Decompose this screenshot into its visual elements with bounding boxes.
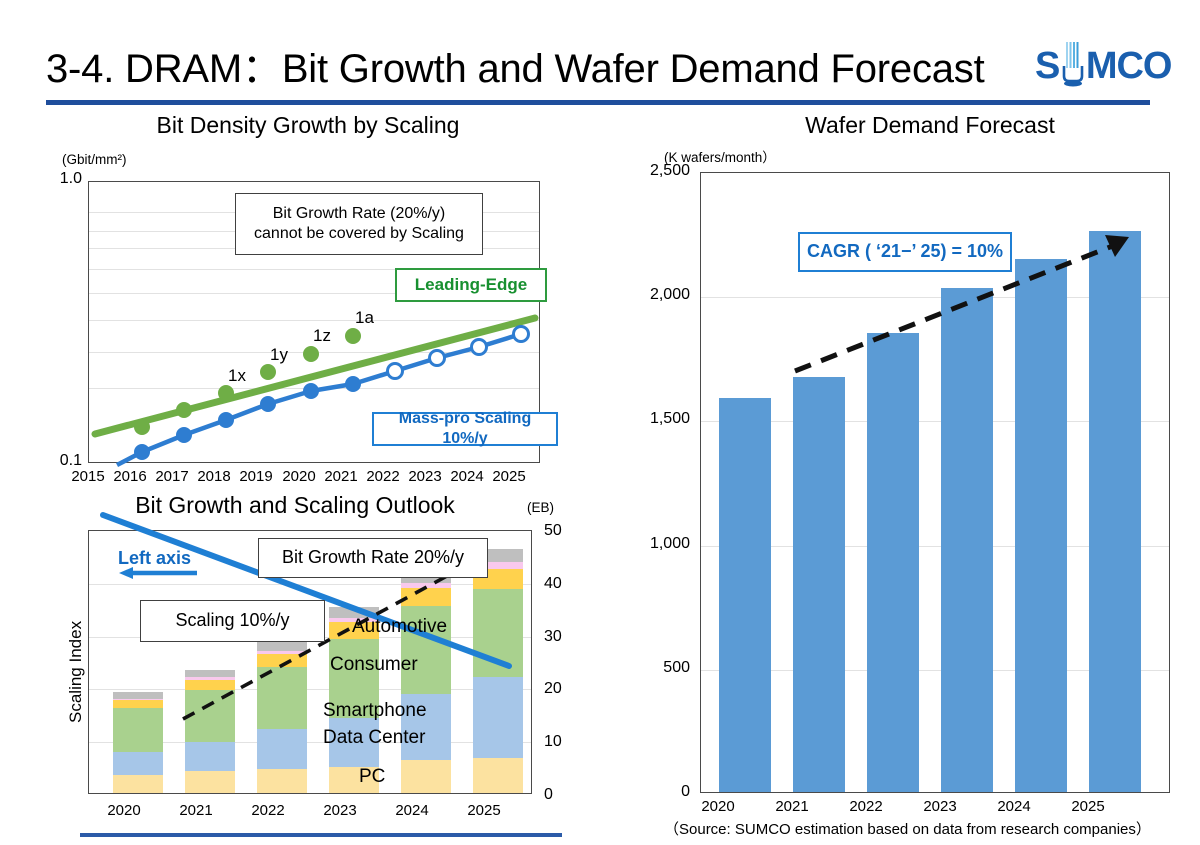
chart2-xtick: 2024 <box>374 802 450 819</box>
header-rule <box>46 100 1150 105</box>
chart2-unit-label: (EB) <box>527 500 554 515</box>
leading-edge-point <box>134 419 150 435</box>
chart3-xtick: 2021 <box>756 798 828 815</box>
scaling-rate-label: Scaling 10%/y <box>175 609 289 632</box>
chart2-xtick: 2021 <box>158 802 234 819</box>
chart2-xtick: 2020 <box>86 802 162 819</box>
chart1-ytick-top: 1.0 <box>38 170 82 188</box>
chart1-xtick: 2025 <box>483 468 535 485</box>
chart3-ytick: 2,500 <box>618 162 690 180</box>
chart2-ytick: 30 <box>544 628 562 646</box>
chart2-xtick: 2025 <box>446 802 522 819</box>
segment-label-consumer: Consumer <box>330 654 418 676</box>
chart3-xtick: 2023 <box>904 798 976 815</box>
leading-edge-point <box>218 385 234 401</box>
chart2-title: Bit Growth and Scaling Outlook <box>75 492 515 519</box>
bit-growth-note-line1: Bit Growth Rate (20%/y) <box>254 204 464 224</box>
logo-text-right: MCO <box>1086 45 1172 87</box>
mass-pro-legend-box: Mass-pro Scaling 10%/y <box>372 412 558 446</box>
chart3-xtick: 2020 <box>682 798 754 815</box>
mass-pro-point-open <box>388 364 403 379</box>
segment-label-smartphone: Smartphone <box>323 700 427 722</box>
chart2-ytick: 10 <box>544 733 562 751</box>
bit-growth-note-line2: cannot be covered by Scaling <box>254 224 464 244</box>
leading-edge-point <box>303 346 319 362</box>
chart3-ytick: 2,000 <box>618 286 690 304</box>
chart2-ytick: 50 <box>544 522 562 540</box>
mass-pro-point <box>303 383 319 399</box>
chart2-left-axis-label: Scaling Index <box>66 621 86 723</box>
chart2-xtick: 2023 <box>302 802 378 819</box>
chart3-xtick: 2024 <box>978 798 1050 815</box>
chart3-xtick: 2022 <box>830 798 902 815</box>
mass-pro-point <box>260 396 276 412</box>
point-label-1a: 1a <box>355 308 374 328</box>
chart2-ytick: 40 <box>544 575 562 593</box>
wafer-crucible-icon <box>1062 42 1084 88</box>
chart3-title: Wafer Demand Forecast <box>700 112 1160 139</box>
leading-edge-legend-box: Leading-Edge <box>395 268 547 302</box>
point-label-1x: 1x <box>228 366 246 386</box>
segment-label-datacenter: Data Center <box>323 727 425 749</box>
bit-growth-rate-callout: Bit Growth Rate 20%/y <box>258 538 488 578</box>
point-label-1y: 1y <box>270 345 288 365</box>
scaling-rate-callout: Scaling 10%/y <box>140 600 325 642</box>
chart3-ytick: 0 <box>618 783 690 801</box>
chart1-title: Bit Density Growth by Scaling <box>88 112 528 139</box>
leading-edge-point <box>176 402 192 418</box>
slide-root: 3-4. DRAM：Bit Growth and Wafer Demand Fo… <box>0 0 1200 845</box>
chart2-xtick: 2022 <box>230 802 306 819</box>
mass-pro-point <box>218 412 234 428</box>
bit-growth-note-callout: Bit Growth Rate (20%/y) cannot be covere… <box>235 193 483 255</box>
segment-label-automotive: Automotive <box>352 616 447 638</box>
logo-text-left: S <box>1035 45 1059 87</box>
leading-edge-legend-label: Leading-Edge <box>415 274 527 296</box>
source-note: （Source: SUMCO estimation based on data … <box>664 818 1151 839</box>
chart3-ytick: 1,000 <box>618 535 690 553</box>
leading-edge-point <box>260 364 276 380</box>
mass-pro-point-open <box>514 327 529 342</box>
mass-pro-point-open <box>430 351 445 366</box>
mass-pro-point <box>134 444 150 460</box>
chart2-ytick: 0 <box>544 786 553 804</box>
chart3-xtick: 2025 <box>1052 798 1124 815</box>
chart1-unit-label: (Gbit/mm²) <box>62 152 127 167</box>
mass-pro-legend-label: Mass-pro Scaling 10%/y <box>374 409 556 450</box>
cagr-label: CAGR ( ‘21−’ 25) = 10% <box>807 240 1003 263</box>
point-label-1z: 1z <box>313 326 331 346</box>
sumco-logo-text: SUMCO <box>1035 46 1171 86</box>
chart3-ytick: 500 <box>618 659 690 677</box>
chart3-ytick: 1,500 <box>618 410 690 428</box>
footer-rule <box>80 833 562 837</box>
mass-pro-point <box>176 427 192 443</box>
cagr-callout: CAGR ( ‘21−’ 25) = 10% <box>798 232 1012 272</box>
bit-growth-rate-label: Bit Growth Rate 20%/y <box>282 546 464 569</box>
chart2-ytick: 20 <box>544 680 562 698</box>
segment-label-pc: PC <box>359 766 385 788</box>
sumco-logo: SUMCO <box>1035 44 1155 92</box>
page-title: 3-4. DRAM：Bit Growth and Wafer Demand Fo… <box>46 36 985 94</box>
mass-pro-point <box>345 376 361 392</box>
mass-pro-point-open <box>472 340 487 355</box>
left-axis-annotation: Left axis <box>118 548 191 569</box>
leading-edge-point <box>345 328 361 344</box>
